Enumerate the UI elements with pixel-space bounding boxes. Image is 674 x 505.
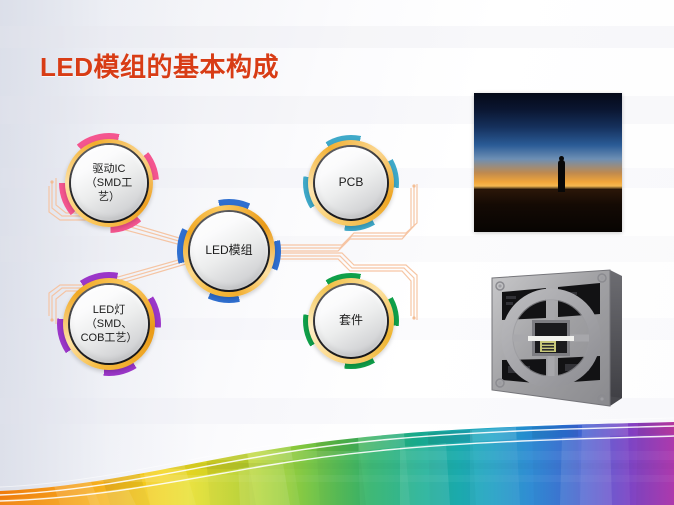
node-face: 驱动IC （SMD工 艺） xyxy=(71,145,147,221)
sky-gradient xyxy=(474,93,622,193)
node-face: LED灯 （SMD、 COB工艺） xyxy=(70,285,148,363)
slide-title: LED模组的基本构成 xyxy=(40,47,279,84)
node-label: PCB xyxy=(333,175,370,190)
node-face: PCB xyxy=(315,147,387,219)
led-cabinet-render xyxy=(470,256,628,414)
diagram-node-kit[interactable]: 套件 xyxy=(303,273,399,369)
diagram-node-led-lamp[interactable]: LED灯 （SMD、 COB工艺） xyxy=(57,272,161,376)
diagram-node-driver-ic[interactable]: 驱动IC （SMD工 艺） xyxy=(59,133,159,233)
diagram-node-led-module[interactable]: LED模组 xyxy=(177,199,281,303)
sunset-silhouette-photo xyxy=(474,93,622,232)
ground-silhouette xyxy=(474,190,622,232)
rainbow-wave-ribbon xyxy=(0,395,674,505)
slide-canvas: LED模组的基本构成 xyxy=(0,0,674,505)
node-label: 套件 xyxy=(333,313,369,328)
node-face: 套件 xyxy=(315,285,387,357)
node-label: LED灯 （SMD、 COB工艺） xyxy=(75,303,144,345)
background-band xyxy=(0,26,674,48)
node-label: 驱动IC （SMD工 艺） xyxy=(80,162,138,204)
node-face: LED模组 xyxy=(190,212,268,290)
node-label: LED模组 xyxy=(199,243,258,258)
person-silhouette xyxy=(558,160,565,192)
diagram-node-pcb[interactable]: PCB xyxy=(303,135,399,231)
